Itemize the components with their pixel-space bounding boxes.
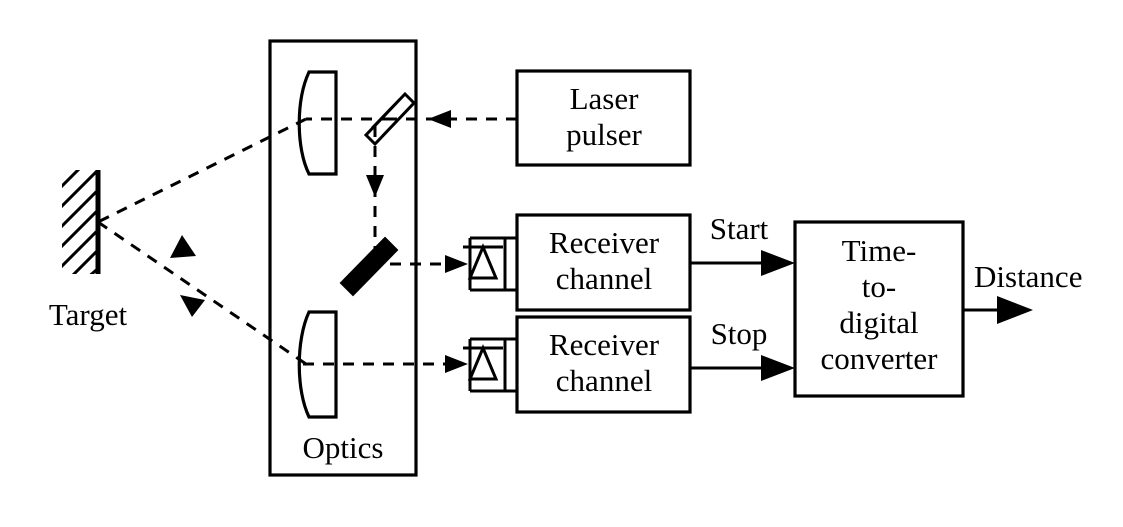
mirror-to-photodiode-arrowhead [445, 255, 468, 273]
distance-output-label: Distance [974, 259, 1082, 294]
photodiode-2-icon [463, 339, 517, 391]
tdc-label-line4: converter [820, 341, 938, 376]
target-to-receive-arrowhead [180, 295, 205, 317]
tdc-label-line1: Time- [842, 233, 917, 268]
optics-label: Optics [303, 430, 384, 465]
distance-output-arrowhead [997, 296, 1033, 324]
start-signal-label: Start [710, 211, 769, 246]
receiver-channel-1-label-line2: channel [556, 261, 652, 296]
laser-beam-arrowhead [428, 110, 451, 128]
tdc-label-line2: to- [862, 269, 896, 304]
start-signal-arrowhead [761, 250, 795, 276]
target-label: Target [49, 297, 128, 332]
diagram-canvas: Target Optics [0, 0, 1123, 527]
stop-signal-arrowhead [761, 355, 795, 381]
receiver-channel-1-label-line1: Receiver [549, 225, 660, 260]
receive-to-photodiode-arrowhead [445, 355, 468, 373]
transmit-to-target-arrowhead [170, 235, 196, 258]
receiver-channel-2-label-line1: Receiver [549, 327, 660, 362]
laser-pulser-label-line1: Laser [570, 81, 640, 116]
laser-pulser-label-line2: pulser [566, 117, 642, 152]
receiver-channel-2-label-line2: channel [556, 363, 652, 398]
photodiode-1-icon [463, 238, 517, 290]
tdc-label-line3: digital [839, 305, 918, 340]
rangefinder-diagram: Target Optics [0, 0, 1123, 527]
stop-signal-label: Stop [711, 316, 768, 351]
transmit-lens-icon [299, 72, 336, 174]
